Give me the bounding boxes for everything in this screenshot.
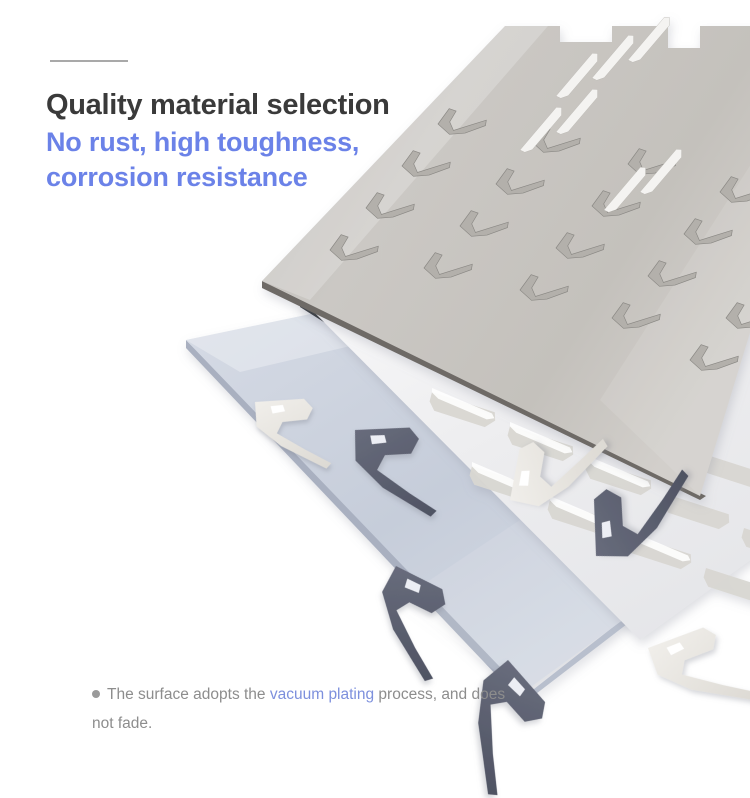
feature-caption: The surface adopts the vacuum plating pr… (92, 681, 512, 738)
product-feature-panel: Quality material selection No rust, high… (0, 0, 750, 798)
page-title: Quality material selection (46, 88, 466, 123)
caption-highlight: vacuum plating (270, 686, 374, 703)
divider-rule (50, 60, 128, 62)
page-subtitle: No rust, high toughness, corrosion resis… (46, 125, 466, 194)
subtitle-line-1: No rust, high toughness, (46, 125, 466, 160)
bullet-dot-icon (92, 690, 100, 698)
blade-piece-7 (646, 621, 750, 714)
caption-text-before: The surface adopts the (107, 686, 270, 703)
subtitle-line-2: corrosion resistance (46, 160, 466, 195)
heading-block: Quality material selection No rust, high… (46, 88, 466, 194)
